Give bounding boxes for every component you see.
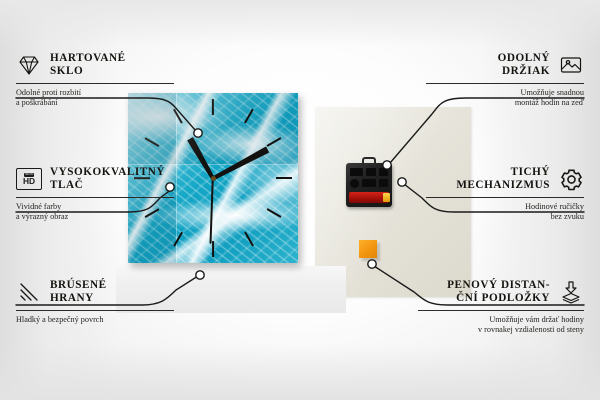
feature-divider [418,310,584,311]
feature-durable-mount: ODOLNÝ DRŽIAK Umožňuje snadnou montáž ho… [426,52,584,109]
feature-title: TICHÝ MECHANIZMUS [456,166,550,192]
feature-subtitle: Umožňuje vám držať hodiny v rovnakej vzd… [418,315,584,336]
feature-subtitle: Hladký a bezpečný povrch [16,315,174,325]
background-fade-bottom [0,344,600,400]
feature-divider [16,310,174,311]
background-fade-top [0,0,600,46]
clock-mechanism [346,163,392,207]
feature-divider [426,197,584,198]
feature-divider [16,83,174,84]
feature-header: TICHÝ MECHANIZMUS [426,166,584,192]
feature-title: HARTOVANÉ SKLO [50,52,126,78]
feature-divider [16,197,174,198]
feature-foam-spacers: PENOVÝ DISTAN- ČNÍ PODLOŽKY Umožňuje vám… [418,279,584,336]
feature-title: PENOVÝ DISTAN- ČNÍ PODLOŽKY [447,279,550,305]
feature-subtitle: Hodinové ručičky bez zvuku [426,202,584,223]
diamond-icon [16,52,42,78]
foam-spacer-pad [359,240,377,258]
feature-subtitle: Odolné proti rozbití a poškrábání [16,88,174,109]
feature-subtitle: Umožňuje snadnou montáž hodin na zeď [426,88,584,109]
feature-title: BRÚSENÉ HRANY [50,279,107,305]
beveled-edges-icon [16,279,42,305]
feature-header: BRÚSENÉ HRANY [16,279,174,305]
infographic-canvas: HARTOVANÉ SKLO Odolné proti rozbití a po… [0,0,600,400]
feature-hardened-glass: HARTOVANÉ SKLO Odolné proti rozbití a po… [16,52,174,109]
wall-mount-icon [558,52,584,78]
feature-subtitle: Vividné farby a výrazný obraz [16,202,174,223]
foam-spacer-icon [558,279,584,305]
feature-title: ODOLNÝ DRŽIAK [498,52,550,78]
feature-title: VYSOKOKVALITNÝ TLAČ [50,166,165,192]
gear-icon [558,166,584,192]
feature-header: ODOLNÝ DRŽIAK [426,52,584,78]
feature-header: PENOVÝ DISTAN- ČNÍ PODLOŽKY [418,279,584,305]
feature-high-quality-print: ultra HD VYSOKOKVALITNÝ TLAČ Vividné far… [16,166,174,223]
ultra-hd-icon: ultra HD [16,166,42,192]
feature-beveled-edges: BRÚSENÉ HRANY Hladký a bezpečný povrch [16,279,174,325]
feature-divider [426,83,584,84]
feature-header: ultra HD VYSOKOKVALITNÝ TLAČ [16,166,174,192]
feature-silent-mechanism: TICHÝ MECHANIZMUS Hodinové ručičky bez z… [426,166,584,223]
feature-header: HARTOVANÉ SKLO [16,52,174,78]
battery [349,192,389,203]
mechanism-hanger [362,157,376,166]
